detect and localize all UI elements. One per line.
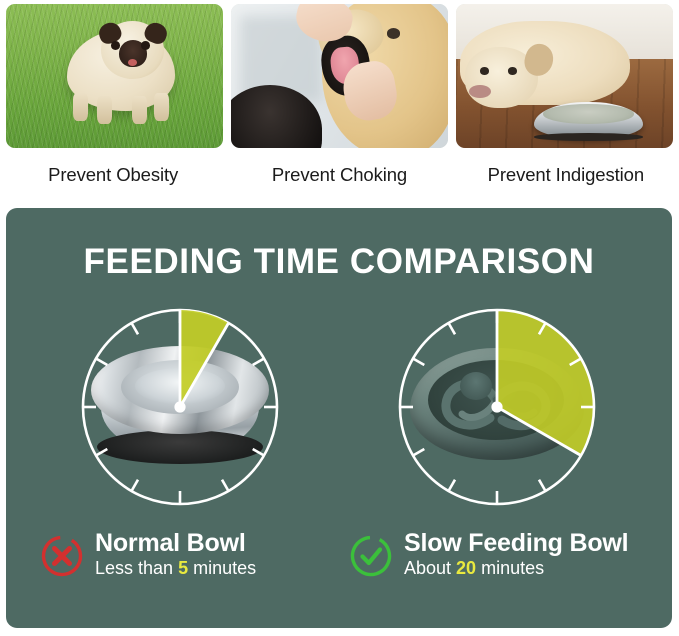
legend-normal-bowl-text: Normal Bowl Less than 5 minutes bbox=[95, 530, 256, 580]
clock-center-hub bbox=[174, 401, 185, 412]
photo-pug-art bbox=[6, 4, 223, 148]
pug-eye bbox=[141, 41, 150, 50]
legend-sub-suffix: minutes bbox=[476, 558, 544, 578]
pug-leg bbox=[132, 96, 147, 123]
feeding-time-comparison-panel: FEEDING TIME COMPARISON bbox=[6, 208, 672, 628]
photo-indigestion bbox=[456, 4, 673, 148]
photo-pug bbox=[6, 4, 223, 148]
labrador-eye bbox=[480, 67, 489, 74]
pug-leg bbox=[97, 96, 112, 123]
legend-sub-suffix: minutes bbox=[188, 558, 256, 578]
photo-choking-art bbox=[231, 4, 448, 148]
retriever-eye bbox=[387, 28, 400, 38]
caption-cell-choking: Prevent Choking bbox=[226, 156, 452, 194]
dial-row bbox=[6, 304, 672, 514]
legend-sub-value: 20 bbox=[456, 558, 476, 578]
legend-sub-prefix: Less than bbox=[95, 558, 178, 578]
panel-title: FEEDING TIME COMPARISON bbox=[6, 242, 672, 282]
caption-prevent-choking: Prevent Choking bbox=[272, 164, 407, 186]
clock-center-hub bbox=[491, 401, 502, 412]
caption-cell-obesity: Prevent Obesity bbox=[0, 156, 226, 194]
circle-check-icon bbox=[349, 534, 393, 578]
normal-bowl-clock-overlay bbox=[77, 304, 283, 510]
caption-prevent-obesity: Prevent Obesity bbox=[48, 164, 178, 186]
comparison-legend: Normal Bowl Less than 5 minutes Slow Fee… bbox=[6, 530, 672, 594]
slow-feeding-bowl-dial bbox=[394, 304, 600, 510]
slow-feeder-clock-overlay bbox=[394, 304, 600, 510]
legend-slow-feeding-bowl: Slow Feeding Bowl About 20 minutes bbox=[349, 530, 628, 580]
legend-normal-bowl: Normal Bowl Less than 5 minutes bbox=[40, 530, 256, 580]
photo-indigestion-art bbox=[456, 4, 673, 148]
product-infographic: Prevent Obesity Prevent Choking Prevent … bbox=[0, 0, 679, 636]
steel-food-bowl bbox=[534, 102, 643, 139]
caption-prevent-indigestion: Prevent Indigestion bbox=[488, 164, 644, 186]
pug-leg bbox=[154, 93, 169, 120]
circle-x-icon bbox=[40, 534, 84, 578]
benefit-captions: Prevent Obesity Prevent Choking Prevent … bbox=[0, 156, 679, 194]
pug-tongue bbox=[128, 59, 138, 66]
caption-cell-indigestion: Prevent Indigestion bbox=[453, 156, 679, 194]
legend-sub-value: 5 bbox=[178, 558, 188, 578]
legend-sub-normal-bowl: Less than 5 minutes bbox=[95, 558, 256, 580]
benefit-photo-strip bbox=[0, 0, 679, 152]
pug-leg bbox=[73, 93, 88, 120]
photo-choking bbox=[231, 4, 448, 148]
labrador-eye bbox=[508, 67, 517, 74]
legend-sub-prefix: About bbox=[404, 558, 456, 578]
legend-title-slow-feeding-bowl: Slow Feeding Bowl bbox=[404, 530, 628, 557]
normal-bowl-dial bbox=[77, 304, 283, 510]
legend-sub-slow-feeding-bowl: About 20 minutes bbox=[404, 558, 628, 580]
legend-slow-feeding-bowl-text: Slow Feeding Bowl About 20 minutes bbox=[404, 530, 628, 580]
labrador-snout bbox=[469, 85, 491, 98]
legend-title-normal-bowl: Normal Bowl bbox=[95, 530, 256, 557]
